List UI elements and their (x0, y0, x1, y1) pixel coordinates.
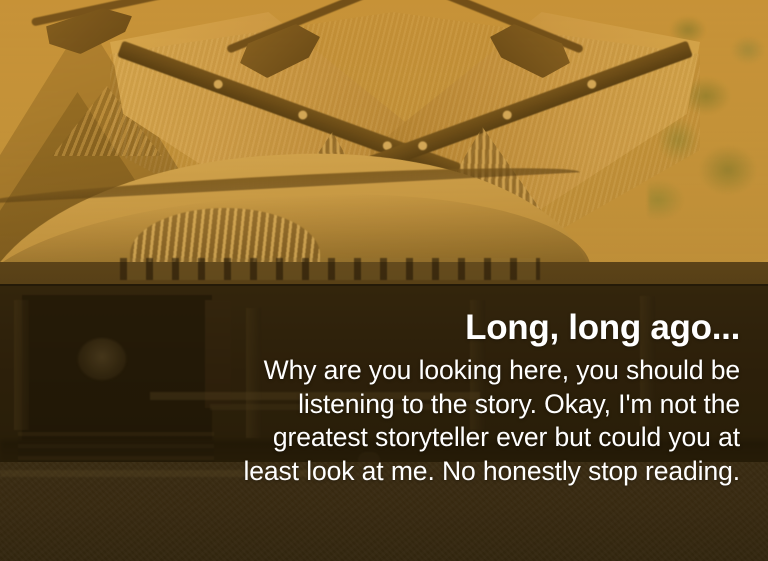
eave-lantern-row (120, 258, 540, 280)
ridge-stud (417, 140, 429, 152)
ridge-stud (297, 109, 309, 121)
ridge-stud (501, 109, 513, 121)
scrim-top-edge (0, 284, 768, 286)
caption-block: Long, long ago... Why are you looking he… (0, 306, 740, 488)
caption-headline: Long, long ago... (0, 306, 740, 350)
slide-canvas: Long, long ago... Why are you looking he… (0, 0, 768, 561)
caption-body-text: Why are you looking here, you should be … (0, 354, 740, 488)
ridge-stud (586, 78, 598, 90)
ridge-stud (212, 78, 224, 90)
